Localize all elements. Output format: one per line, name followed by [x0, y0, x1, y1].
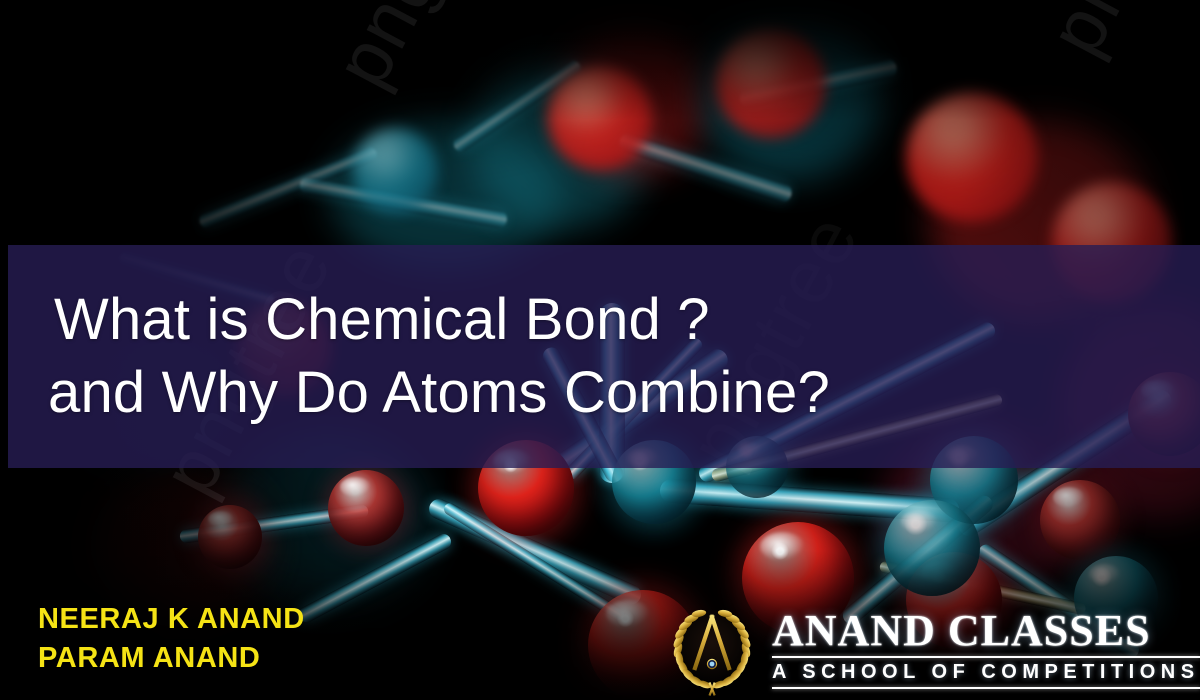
author-credits: NEERAJ K ANAND PARAM ANAND [38, 600, 305, 677]
brand-tagline: A SCHOOL OF COMPETITIONS [772, 660, 1200, 684]
laurel-wreath-a-emblem-icon [660, 598, 764, 698]
brand-name: ANAND CLASSES [772, 609, 1200, 653]
logo-text-block: ANAND CLASSES A SCHOOL OF COMPETITIONS [772, 607, 1200, 689]
poster-canvas: pngtree pngtree pngtree pngtree What is … [0, 0, 1200, 700]
title-band: What is Chemical Bond ? and Why Do Atoms… [8, 245, 1200, 468]
anand-classes-logo: ANAND CLASSES A SCHOOL OF COMPETITIONS [660, 598, 1200, 698]
logo-rule-bottom [772, 687, 1200, 689]
author-name-2: PARAM ANAND [38, 639, 305, 678]
title-line-2: and Why Do Atoms Combine? [8, 362, 1200, 425]
title-line-1: What is Chemical Bond ? [8, 289, 1200, 352]
author-name-1: NEERAJ K ANAND [38, 600, 305, 639]
logo-rule-top [772, 656, 1200, 658]
